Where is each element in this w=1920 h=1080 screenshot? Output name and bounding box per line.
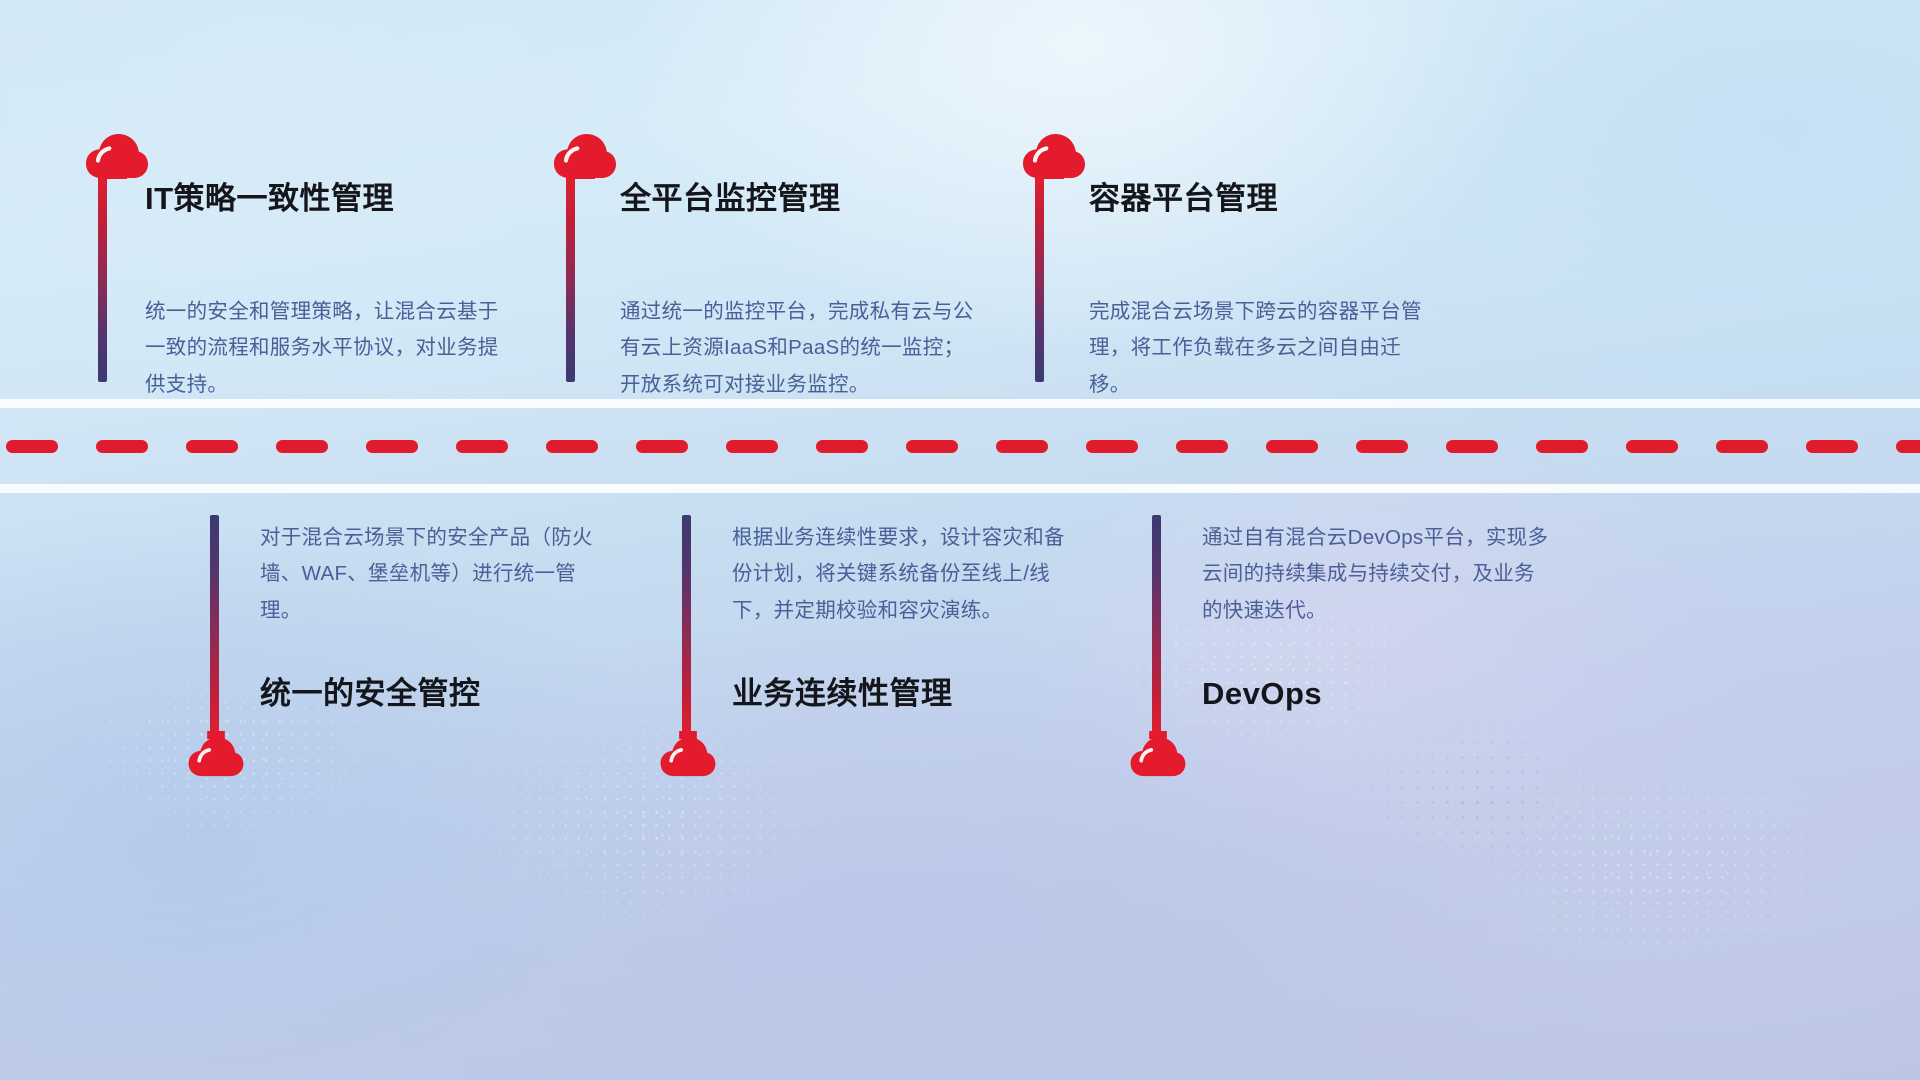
- body-full-platform-monitoring: 通过统一的监控平台，完成私有云与公有云上资源IaaS和PaaS的统一监控；开放系…: [620, 294, 982, 403]
- heading-it-policy-consistency: IT策略一致性管理: [145, 180, 394, 217]
- heading-devops: DevOps: [1202, 675, 1322, 712]
- road-center-dashes: [0, 440, 1920, 453]
- heading-business-continuity: 业务连续性管理: [732, 675, 953, 712]
- road-edge-bottom: [0, 484, 1920, 493]
- cloud-pin-icon: [656, 731, 720, 777]
- body-devops: 通过自有混合云DevOps平台，实现多云间的持续集成与持续交付，及业务的快速迭代…: [1202, 520, 1550, 629]
- heading-full-platform-monitoring: 全平台监控管理: [620, 180, 841, 217]
- cloud-pin-icon: [184, 731, 248, 777]
- cloud-pin-icon: [1126, 731, 1190, 777]
- connector-stem-bottom-2: [682, 515, 691, 737]
- heading-unified-security-control: 统一的安全管控: [260, 675, 481, 712]
- heading-container-platform: 容器平台管理: [1089, 180, 1278, 217]
- infographic-canvas: IT策略一致性管理 统一的安全和管理策略，让混合云基于一致的流程和服务水平协议，…: [0, 0, 1920, 1080]
- cloud-pin-icon: [553, 133, 617, 179]
- connector-stem-bottom-1: [210, 515, 219, 737]
- connector-stem-bottom-3: [1152, 515, 1161, 737]
- connector-stem-top-3: [1035, 175, 1044, 382]
- body-unified-security-control: 对于混合云场景下的安全产品（防火墙、WAF、堡垒机等）进行统一管理。: [260, 520, 612, 629]
- cloud-pin-icon: [85, 133, 149, 179]
- body-it-policy-consistency: 统一的安全和管理策略，让混合云基于一致的流程和服务水平协议，对业务提供支持。: [145, 294, 500, 403]
- cloud-pin-icon: [1022, 133, 1086, 179]
- body-business-continuity: 根据业务连续性要求，设计容灾和备份计划，将关键系统备份至线上/线下，并定期校验和…: [732, 520, 1080, 629]
- connector-stem-top-2: [566, 175, 575, 382]
- body-container-platform: 完成混合云场景下跨云的容器平台管理，将工作负载在多云之间自由迁移。: [1089, 294, 1441, 403]
- connector-stem-top-1: [98, 175, 107, 382]
